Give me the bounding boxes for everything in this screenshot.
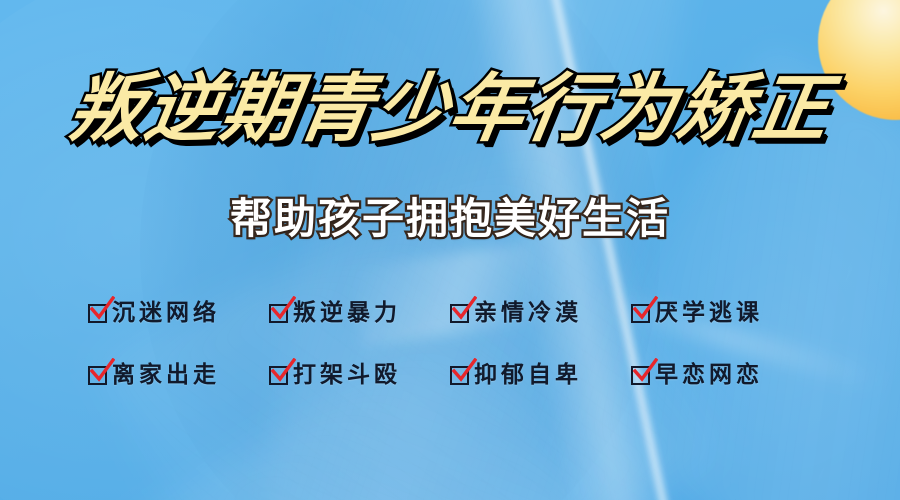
check-mark-icon: [632, 358, 658, 384]
list-item[interactable]: 厌学逃课: [631, 296, 812, 330]
checked-checkbox-icon[interactable]: [269, 304, 288, 323]
checked-checkbox-icon[interactable]: [269, 366, 288, 385]
list-item[interactable]: 亲情冷漠: [450, 296, 631, 330]
list-item-label: 亲情冷漠: [474, 302, 582, 325]
check-mark-icon: [451, 296, 477, 322]
list-item[interactable]: 早恋网恋: [631, 358, 812, 392]
list-item[interactable]: 离家出走: [88, 358, 269, 392]
promo-banner: 叛逆期青少年行为矫正 帮助孩子拥抱美好生活 沉迷网络 叛逆暴力: [0, 0, 900, 500]
check-mark-icon: [270, 296, 296, 322]
list-item[interactable]: 打架斗殴: [269, 358, 450, 392]
list-item-label: 叛逆暴力: [293, 302, 401, 325]
list-item-label: 抑郁自卑: [474, 364, 582, 387]
checked-checkbox-icon[interactable]: [88, 366, 107, 385]
checked-checkbox-icon[interactable]: [450, 366, 469, 385]
list-item-label: 早恋网恋: [655, 364, 763, 387]
check-mark-icon: [89, 358, 115, 384]
title-container: 叛逆期青少年行为矫正: [0, 72, 900, 146]
check-mark-icon: [89, 296, 115, 322]
checked-checkbox-icon[interactable]: [631, 304, 650, 323]
checked-checkbox-icon[interactable]: [88, 304, 107, 323]
list-item-label: 离家出走: [112, 364, 220, 387]
list-item[interactable]: 抑郁自卑: [450, 358, 631, 392]
checked-checkbox-icon[interactable]: [450, 304, 469, 323]
check-mark-icon: [632, 296, 658, 322]
check-mark-icon: [451, 358, 477, 384]
page-title: 叛逆期青少年行为矫正: [64, 72, 836, 146]
list-item[interactable]: 沉迷网络: [88, 296, 269, 330]
subtitle-container: 帮助孩子拥抱美好生活: [0, 198, 900, 240]
issue-checklist: 沉迷网络 叛逆暴力 亲情冷漠 厌学逃课: [88, 296, 812, 392]
list-item-label: 厌学逃课: [655, 302, 763, 325]
checked-checkbox-icon[interactable]: [631, 366, 650, 385]
check-mark-icon: [270, 358, 296, 384]
list-item-label: 打架斗殴: [293, 364, 401, 387]
list-item-label: 沉迷网络: [112, 302, 220, 325]
page-subtitle: 帮助孩子拥抱美好生活: [230, 198, 670, 240]
list-item[interactable]: 叛逆暴力: [269, 296, 450, 330]
